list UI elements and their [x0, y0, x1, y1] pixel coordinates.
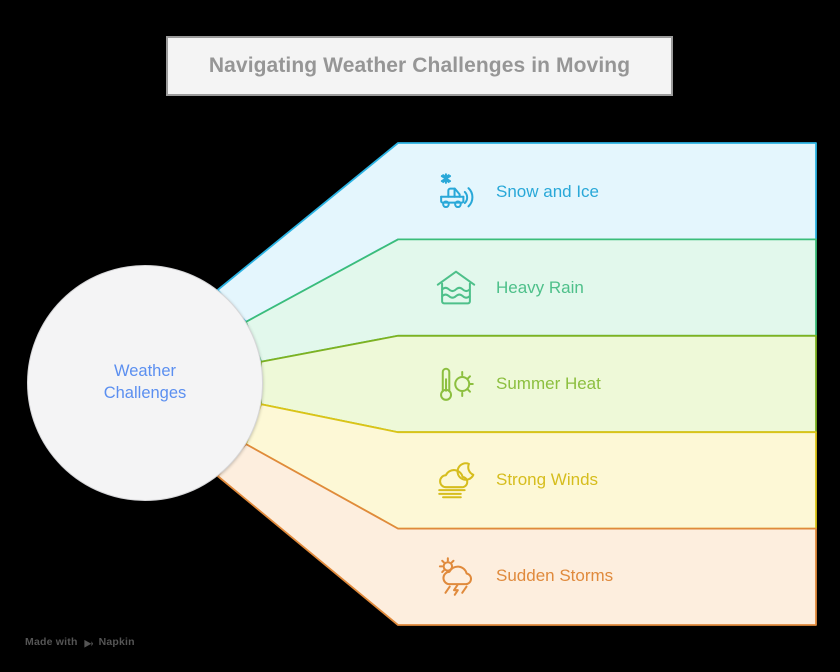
row-item-0[interactable]: Snow and Ice [432, 162, 599, 222]
watermark-brand: Napkin [99, 636, 135, 648]
snowplow-icon [432, 168, 480, 216]
sun-cloud-lightning-icon [432, 552, 480, 600]
flooded-house-icon [432, 264, 480, 312]
diagram-canvas: Navigating Weather Challenges in Moving … [0, 0, 840, 672]
row-label-0: Snow and Ice [496, 182, 599, 202]
watermark: Made with Napkin [25, 636, 135, 648]
row-item-4[interactable]: Sudden Storms [432, 546, 613, 606]
row-label-3: Strong Winds [496, 470, 598, 490]
center-node-line1: Weather [114, 361, 176, 383]
row-item-3[interactable]: Strong Winds [432, 450, 598, 510]
row-label-1: Heavy Rain [496, 278, 584, 298]
row-label-4: Sudden Storms [496, 566, 613, 586]
row-item-1[interactable]: Heavy Rain [432, 258, 584, 318]
row-label-2: Summer Heat [496, 374, 601, 394]
cloud-moon-wind-icon [432, 456, 480, 504]
row-item-2[interactable]: Summer Heat [432, 354, 601, 414]
center-node-line2: Challenges [104, 383, 187, 405]
watermark-made-with: Made with [25, 636, 78, 648]
center-node[interactable]: Weather Challenges [27, 265, 263, 501]
napkin-logo-icon [83, 637, 94, 648]
thermometer-sun-icon [432, 360, 480, 408]
